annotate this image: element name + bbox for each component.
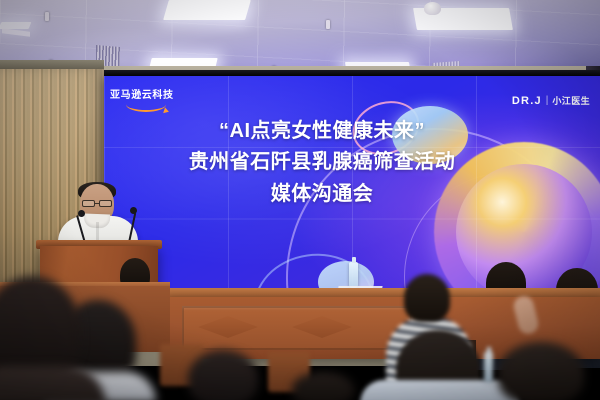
drj-cn-wordmark: 小江医生	[552, 94, 590, 107]
slide-title: “AI点亮女性健康未来” 贵州省石阡县乳腺癌筛查活动 媒体沟通会	[104, 116, 540, 210]
water-bottle	[484, 352, 493, 382]
slide-title-line-3: 媒体沟通会	[104, 178, 540, 210]
ceiling-speaker-icon	[424, 2, 441, 15]
drj-wordmark: DR.J	[512, 95, 542, 107]
wall-trim	[0, 60, 104, 69]
aws-smile-arrow-icon	[126, 103, 166, 112]
audience-member-head	[292, 372, 354, 400]
audience-member-head	[498, 342, 584, 400]
aws-logo-wordmark: 亚马逊云科技	[110, 90, 206, 102]
microphone-icon	[130, 207, 137, 214]
ceiling-light-panel	[163, 0, 251, 20]
slide-title-line-1: “AI点亮女性健康未来”	[104, 116, 540, 146]
water-bottle	[349, 262, 358, 288]
eyeglasses-icon	[99, 200, 112, 207]
aws-china-logo: 亚马逊云科技	[110, 90, 206, 114]
microphone-icon	[78, 210, 85, 217]
logo-separator: |	[546, 95, 549, 106]
audience-member-head	[188, 350, 258, 400]
slide-title-line-2: 贵州省石阡县乳腺癌筛查活动	[104, 146, 540, 178]
press-conference-screenshot: 亚马逊云科技 DR.J | 小江医生 “AI点亮女性健康未来” 贵州省石阡县乳腺…	[0, 0, 600, 400]
eyeglasses-icon	[82, 200, 95, 207]
audience-member-head	[404, 274, 450, 322]
sprinkler-icon	[45, 12, 49, 21]
sprinkler-icon	[326, 20, 330, 29]
drj-partner-logo: DR.J | 小江医生	[512, 94, 590, 107]
audience-member-light-blue-top	[360, 380, 520, 400]
eyeglasses-bridge	[95, 203, 99, 204]
